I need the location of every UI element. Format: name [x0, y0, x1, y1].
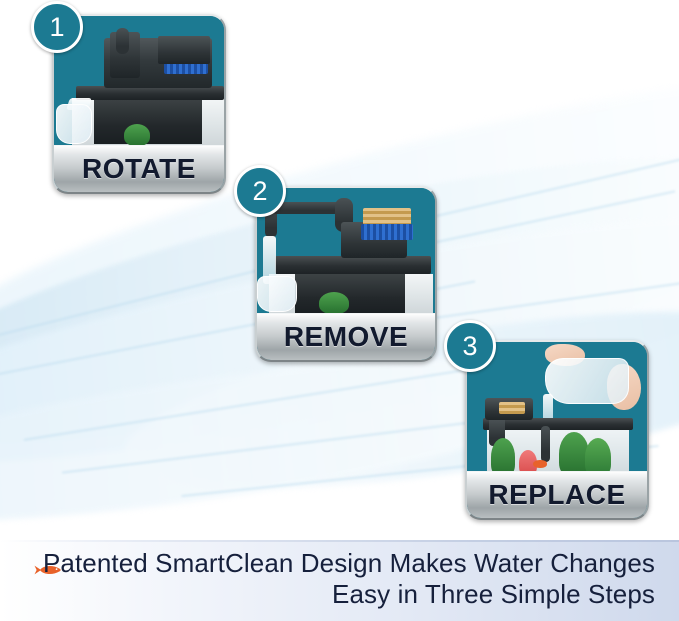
tank-rim [76, 86, 224, 100]
step-panel-2[interactable]: REMOVE [255, 186, 437, 362]
aquarium-refill-replace-scene [467, 342, 647, 472]
step-1-label: ROTATE [82, 155, 196, 183]
step-2-label: REMOVE [284, 323, 408, 351]
step-badge-1: 1 [31, 1, 83, 53]
step-1-label-bar: ROTATE [54, 145, 224, 192]
step-badge-3: 3 [444, 320, 496, 372]
step-badge-2: 2 [234, 165, 286, 217]
fish-icon [533, 460, 547, 468]
step-panel-3-inner: REPLACE [467, 342, 647, 518]
cartridge-media [361, 224, 413, 240]
aquarium-filter-remove-scene [257, 188, 435, 314]
pitcher-icon [257, 276, 297, 312]
pitcher-icon [545, 358, 629, 404]
heater-icon [541, 426, 550, 462]
step-badge-2-number: 2 [252, 178, 267, 205]
filter-lid [158, 36, 210, 64]
rotate-knob-icon [116, 28, 129, 54]
step-2-label-bar: REMOVE [257, 313, 435, 360]
caption-divider [0, 540, 679, 542]
step-3-label-bar: REPLACE [467, 471, 647, 518]
plant-icon [319, 292, 349, 314]
tank-glass [295, 274, 405, 314]
step-panel-1-inner: ROTATE [54, 16, 224, 192]
plant-icon [124, 124, 150, 146]
step-3-label: REPLACE [488, 481, 625, 509]
step-panel-3[interactable]: REPLACE [465, 340, 649, 520]
step-badge-3-number: 3 [462, 333, 477, 360]
step-panel-2-inner: REMOVE [257, 188, 435, 360]
tank-rim [275, 256, 431, 274]
pitcher-icon [56, 104, 92, 144]
caption-line-2: Easy in Three Simple Steps [0, 579, 655, 610]
step-badge-1-number: 1 [49, 14, 64, 41]
caption: Patented SmartClean Design Makes Water C… [0, 548, 655, 610]
cartridge-icon [499, 402, 525, 414]
plant-icon [585, 438, 611, 472]
plant-icon [491, 438, 515, 472]
caption-line-1: Patented SmartClean Design Makes Water C… [0, 548, 655, 579]
infographic-canvas: ROTATE 1 [0, 0, 679, 621]
